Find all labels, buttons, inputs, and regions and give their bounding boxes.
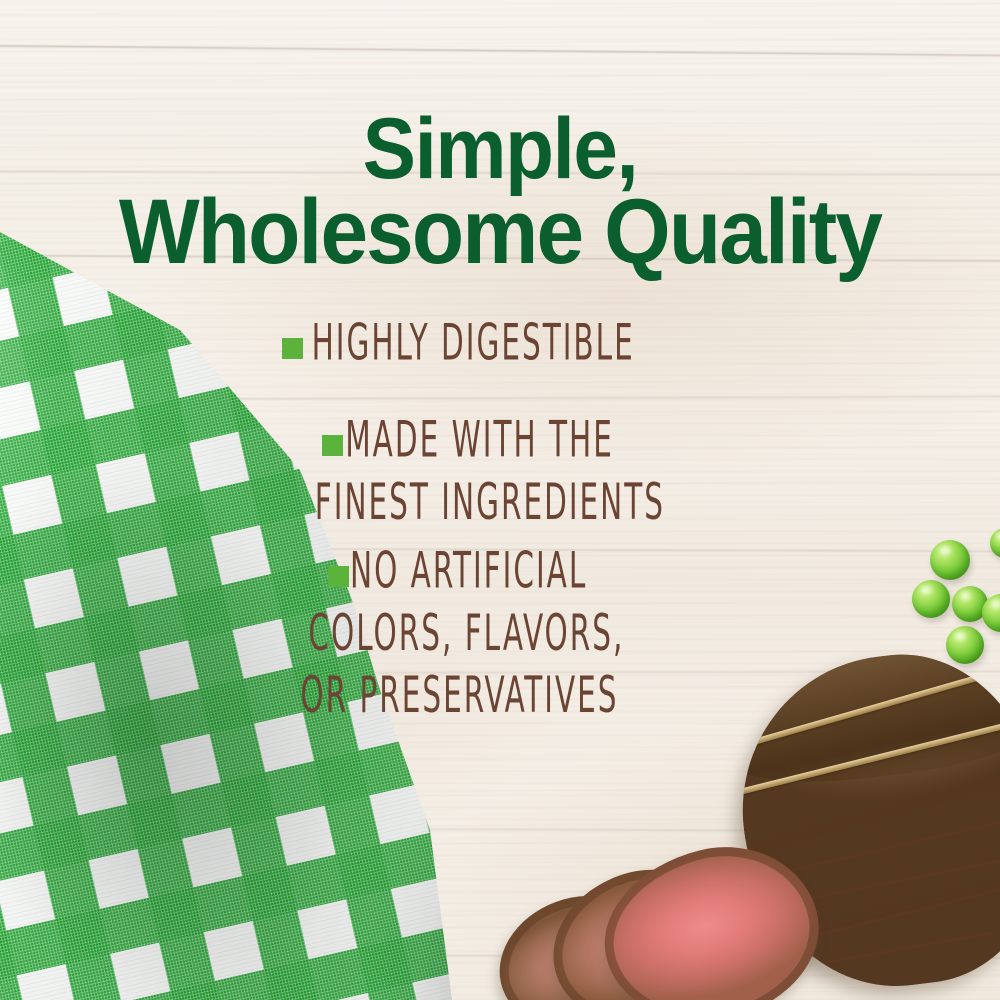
list-item: NO ARTIFICIAL COLORS, FLAVORS, OR PRESER… (270, 540, 770, 692)
feature-list: HIGHLY DIGESTIBLE MADE WITH THE FINEST I… (270, 312, 770, 719)
meat-grain (809, 932, 993, 966)
list-item-line: FINEST INGREDIENTS (315, 471, 670, 533)
page-title: Simple, Wholesome Quality (35, 110, 965, 276)
list-item-label: NO ARTIFICIAL COLORS, FLAVORS, OR PRESER… (270, 540, 670, 726)
list-item: MADE WITH THE FINEST INGREDIENTS (270, 409, 770, 511)
list-item-line: MADE WITH THE (345, 410, 614, 469)
list-item: HIGHLY DIGESTIBLE (270, 312, 770, 363)
list-item-line: OR PRESERVATIVES (300, 665, 670, 727)
list-item-line: NO ARTIFICIAL (350, 542, 587, 601)
list-item-label: MADE WITH THE FINEST INGREDIENTS (270, 409, 670, 533)
list-item-line: HIGHLY DIGESTIBLE (312, 313, 635, 372)
list-item-label: HIGHLY DIGESTIBLE (270, 312, 670, 374)
headline-line-2: Wholesome Quality (35, 190, 965, 276)
pea (930, 540, 970, 580)
marketing-banner: Simple, Wholesome Quality HIGHLY DIGESTI… (0, 0, 1000, 1000)
pea (912, 580, 950, 618)
list-item-line: COLORS, FLAVORS, (308, 602, 670, 664)
